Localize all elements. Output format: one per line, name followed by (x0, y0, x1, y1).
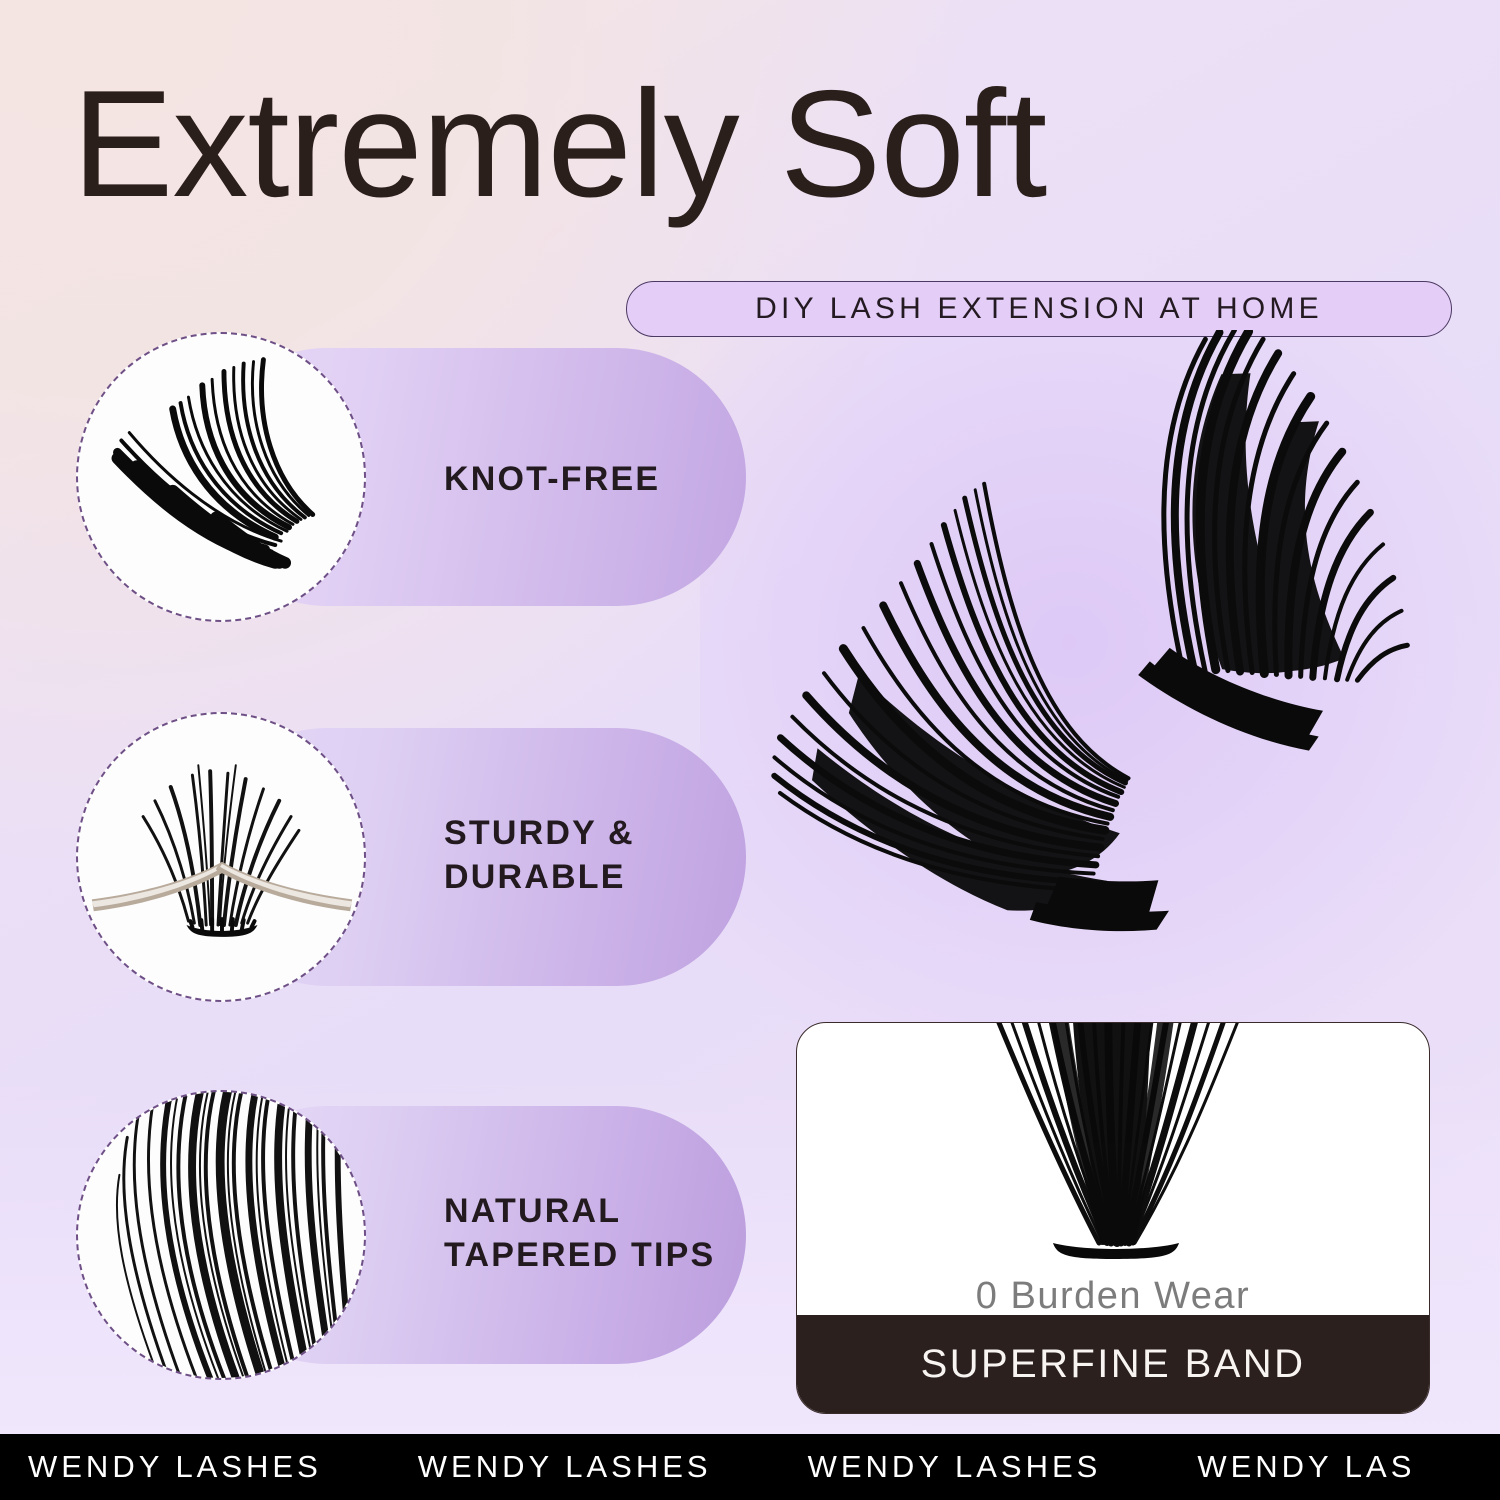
footer-brand-item: WENDY LASHES (28, 1449, 322, 1485)
product-infographic: Extremely Soft DIY LASH EXTENSION AT HOM… (0, 0, 1500, 1500)
feature-label-line1: KNOT-FREE (444, 458, 764, 502)
feature-label-line2: TAPERED TIPS (444, 1234, 764, 1278)
page-title: Extremely Soft (72, 68, 1472, 220)
lash-band-closeup-icon (797, 1023, 1429, 1281)
feature-label-knot-free: KNOT-FREE (444, 458, 764, 502)
footer-track: WENDY LASHES WENDY LASHES WENDY LASHES W… (0, 1449, 1500, 1485)
subtitle-pill: DIY LASH EXTENSION AT HOME (626, 281, 1452, 337)
band-card-bar: SUPERFINE BAND (797, 1315, 1429, 1413)
tweezers-holding-lash-icon (76, 712, 366, 1002)
footer-brand-strip: WENDY LASHES WENDY LASHES WENDY LASHES W… (0, 1434, 1500, 1500)
lash-cluster-curved-icon (76, 332, 366, 622)
footer-brand-item: WENDY LASHES (808, 1449, 1102, 1485)
two-lash-clusters-icon (740, 330, 1480, 1020)
feature-label-line1: STURDY & (444, 812, 764, 856)
footer-brand-item: WENDY LASHES (418, 1449, 712, 1485)
subtitle-text: DIY LASH EXTENSION AT HOME (755, 292, 1323, 326)
footer-brand-item: WENDY LAS (1197, 1449, 1415, 1485)
superfine-band-card: 0 Burden Wear SUPERFINE BAND (796, 1022, 1430, 1414)
band-card-bar-label: SUPERFINE BAND (921, 1342, 1306, 1387)
feature-label-line1: NATURAL (444, 1190, 764, 1234)
feature-label-line2: DURABLE (444, 856, 764, 900)
tapered-lash-fibers-macro-icon (76, 1090, 366, 1380)
band-card-caption: 0 Burden Wear (797, 1275, 1429, 1318)
feature-label-sturdy-durable: STURDY & DURABLE (444, 812, 764, 899)
feature-label-natural-tapered-tips: NATURAL TAPERED TIPS (444, 1190, 764, 1277)
